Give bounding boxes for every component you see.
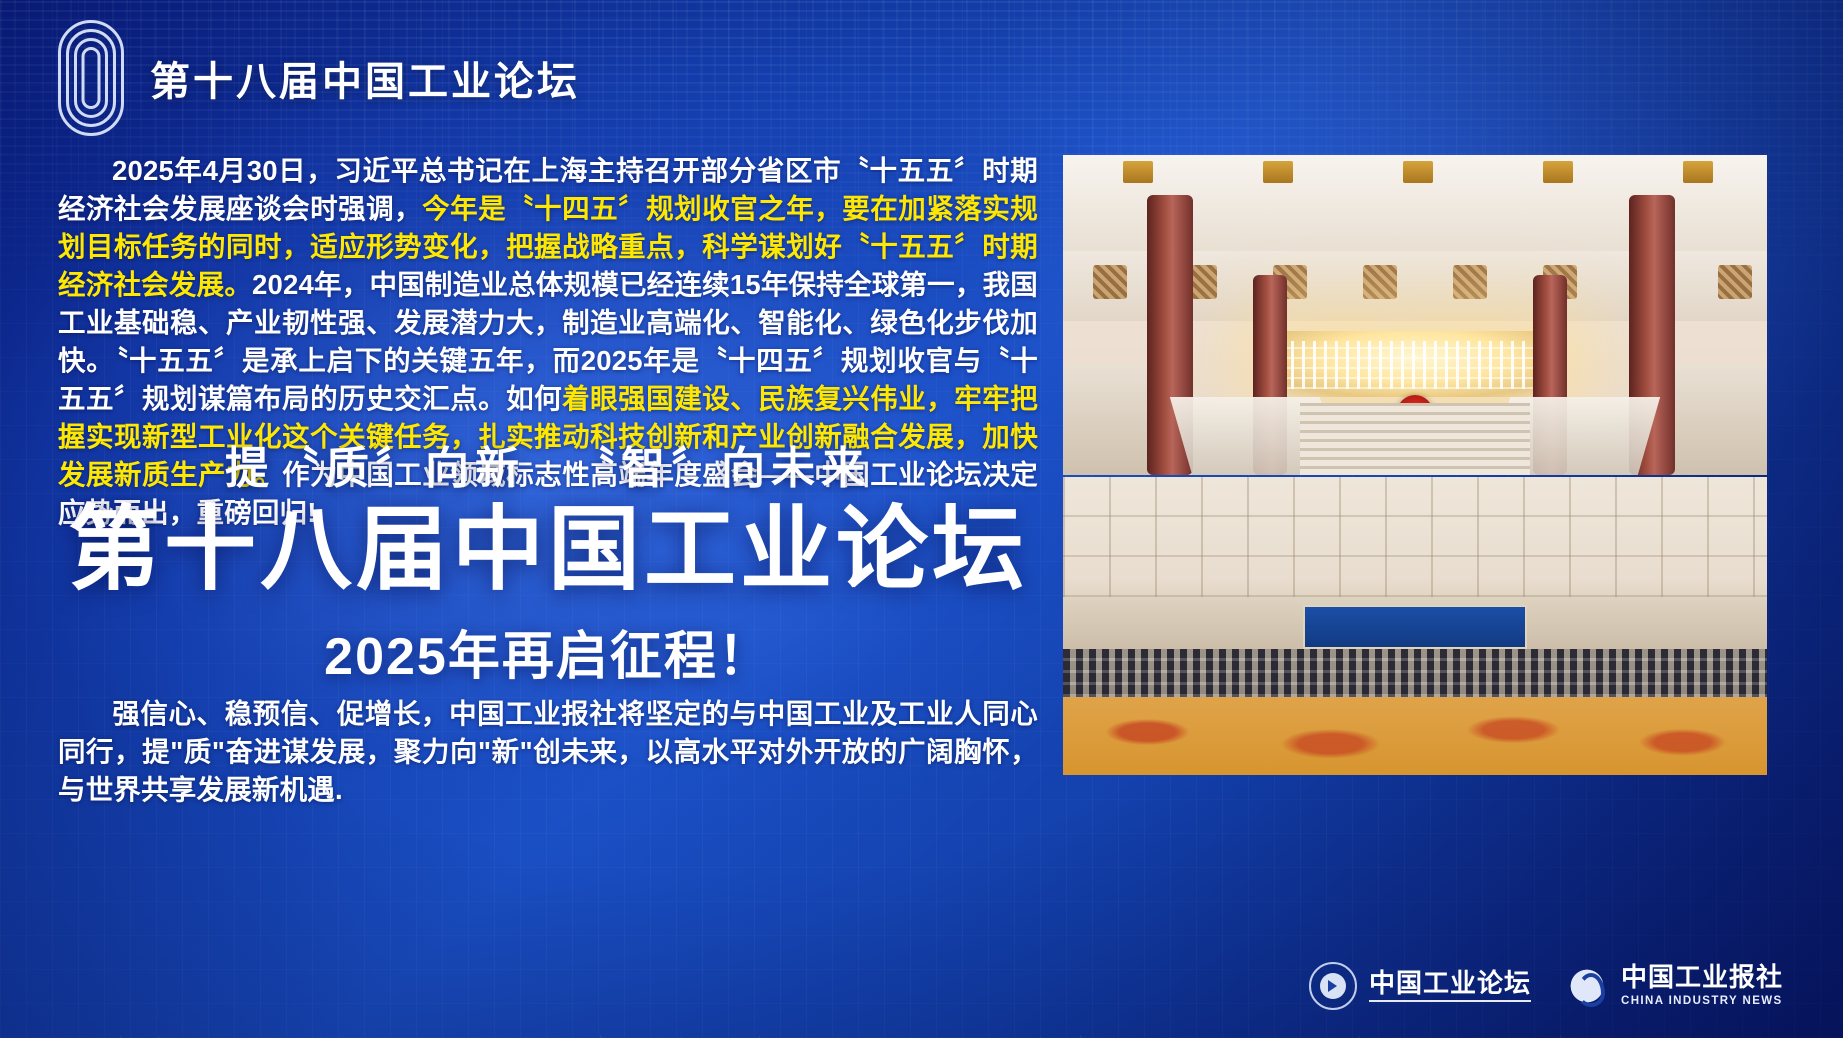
footer-logos: 中国工业论坛 中国工业报社 CHINA INDUSTRY NEWS — [1309, 962, 1783, 1010]
tagline-right: 〝智〞向未来 — [571, 444, 871, 493]
photo-panel — [1063, 155, 1767, 775]
concentric-oval-logo-icon — [60, 22, 122, 134]
conference-hall-photo — [1063, 477, 1767, 775]
forum-logo: 中国工业论坛 — [1309, 962, 1531, 1010]
poster-canvas: 第十八届中国工业论坛 2025年4月30日，习近平总书记在上海主持召开部分省区市… — [0, 0, 1843, 1038]
forum-logo-name: 中国工业论坛 — [1369, 970, 1531, 1002]
forum-emblem-icon — [1309, 962, 1357, 1010]
header-title: 第十八届中国工业论坛 — [150, 49, 580, 107]
outro-text: 强信心、稳预信、促增长，中国工业报社将坚定的与中国工业及工业人同心同行，提"质"… — [58, 698, 1038, 805]
tagline-left: 提〝质〞向新 — [225, 444, 525, 493]
tagline: 提〝质〞向新〝智〞向未来 — [58, 432, 1038, 496]
news-logo-subtitle: CHINA INDUSTRY NEWS — [1621, 996, 1783, 1008]
sub-title: 2025年再启征程！ — [58, 614, 1038, 689]
main-title: 第十八届中国工业论坛 — [58, 498, 1038, 602]
great-hall-interior-photo — [1063, 155, 1767, 475]
outro-paragraph: 强信心、稳预信、促增长，中国工业报社将坚定的与中国工业及工业人同心同行，提"质"… — [58, 695, 1038, 809]
poster-header: 第十八届中国工业论坛 — [60, 22, 580, 134]
news-logo: 中国工业报社 CHINA INDUSTRY NEWS — [1565, 964, 1783, 1008]
news-logo-name: 中国工业报社 — [1621, 964, 1783, 990]
china-industry-news-icon — [1565, 964, 1609, 1008]
